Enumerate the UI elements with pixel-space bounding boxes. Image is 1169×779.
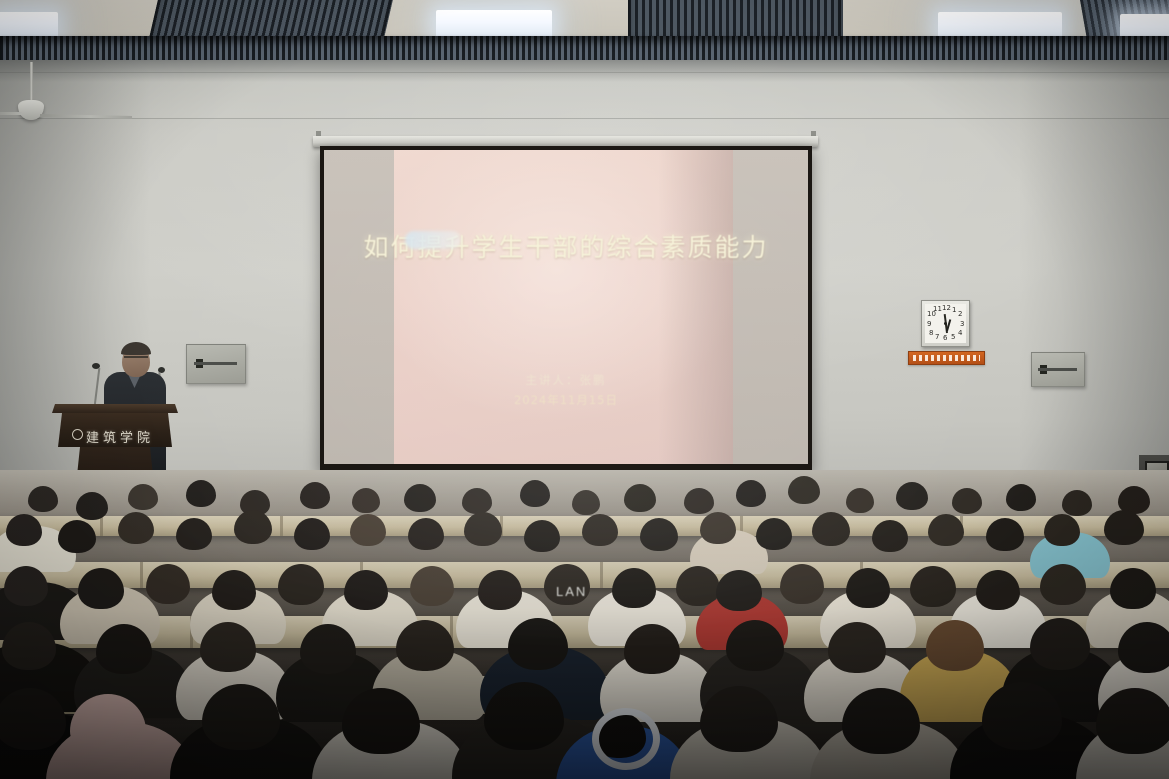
clock-numeral: 12 [942, 305, 951, 312]
slide-presenter: 主讲人：张鹏 [324, 372, 808, 388]
audience-head [78, 568, 124, 609]
audience-head [624, 624, 680, 674]
clock-center-pin [944, 322, 947, 325]
audience-head [1062, 490, 1092, 516]
audience-head [910, 566, 956, 607]
audience-head [212, 570, 256, 610]
screen-surface: 如何提升学生干部的综合素质能力 主讲人：张鹏 2024年11月15日 [324, 150, 808, 464]
audience-head [846, 488, 874, 513]
audience-head [350, 514, 386, 546]
audience-head [396, 620, 454, 671]
audience-head [846, 568, 890, 608]
audience-head [352, 488, 380, 513]
clock-face: 12 1 2 3 4 5 6 7 8 9 10 11 [925, 304, 966, 343]
ceiling-panel-light [0, 12, 58, 38]
audience-head [1030, 618, 1090, 670]
audience-head [1104, 510, 1144, 545]
audience-head [96, 624, 152, 674]
screen-margin-right [733, 150, 808, 464]
clock-numeral: 8 [929, 330, 933, 337]
audience-head [736, 480, 766, 507]
hoodie-circle-logo-icon [592, 708, 660, 770]
audience-head [872, 520, 908, 552]
audience-head [508, 618, 568, 670]
audience-head [896, 482, 928, 510]
box-slot [194, 362, 237, 365]
audience-head [780, 564, 824, 604]
audience-head [146, 564, 190, 604]
audience-head [1044, 514, 1080, 546]
wall-clock: 12 1 2 3 4 5 6 7 8 9 10 11 [921, 300, 970, 347]
audience-head [926, 620, 984, 671]
audience-head [986, 518, 1024, 551]
audience-head [462, 488, 492, 514]
wall-vignette-right [1019, 60, 1169, 520]
audience-head [200, 622, 256, 672]
slide-date: 2024年11月15日 [324, 392, 808, 408]
audience-head [118, 512, 154, 544]
wall-joint-line [0, 72, 1169, 73]
clock-numeral: 4 [958, 330, 962, 337]
audience-head [788, 476, 820, 504]
audience-head [76, 492, 108, 520]
screen-glare-reflection [405, 231, 461, 249]
audience-head [524, 520, 560, 552]
projection-screen[interactable]: 如何提升学生干部的综合素质能力 主讲人：张鹏 2024年11月15日 [320, 146, 812, 471]
clock-numeral: 3 [960, 321, 964, 328]
ceiling-grille-strip [0, 36, 1169, 62]
audience-head [1110, 568, 1156, 609]
ceiling-panel-light [436, 10, 552, 38]
audience-head [4, 566, 48, 606]
box-slot [1038, 368, 1076, 371]
audience-head [300, 624, 356, 674]
ceiling-fan-rod [30, 62, 33, 104]
audience-head [176, 518, 212, 550]
screen-margin-left [324, 150, 397, 464]
audience-head [716, 570, 762, 611]
clock-numeral: 6 [943, 335, 947, 342]
audience-head [58, 520, 96, 553]
presenter-hair [121, 342, 151, 355]
audience-head [1096, 688, 1169, 754]
orange-notice-sign [908, 351, 985, 365]
glasses-icon [124, 356, 148, 363]
notice-sign-text [913, 355, 980, 361]
audience-head [278, 564, 324, 605]
clock-numeral: 1 [952, 307, 956, 314]
wall-electrical-box-right [1031, 352, 1085, 387]
audience-head [6, 514, 42, 546]
audience-head [128, 484, 158, 510]
audience-head [684, 488, 714, 514]
clock-numeral: 5 [951, 334, 955, 341]
wall-electrical-box-left [186, 344, 246, 384]
audience-head [928, 514, 964, 546]
audience-head [1006, 484, 1036, 511]
wall-shadow [0, 60, 1169, 82]
clock-numeral: 11 [933, 306, 942, 313]
audience-head [28, 486, 58, 512]
audience-head [976, 570, 1020, 610]
audience-head [812, 512, 850, 546]
audience-head [1040, 564, 1086, 605]
audience-area: LAN [0, 470, 1169, 779]
lectern-label: 建筑学院 [68, 427, 172, 446]
audience-head [234, 510, 272, 544]
lectern-front: 建筑学院 [58, 413, 172, 447]
audience-head [726, 620, 784, 671]
audience-head [624, 484, 656, 512]
audience-head [2, 622, 56, 670]
audience-head [300, 482, 330, 509]
audience-head [408, 518, 444, 550]
projected-slide [394, 150, 733, 464]
audience-head [612, 568, 656, 608]
audience-head [464, 512, 502, 546]
audience-head [186, 480, 216, 507]
audience-head [756, 518, 792, 550]
ceiling-fan-blade [0, 112, 22, 115]
audience-head [294, 518, 330, 550]
audience-head [1118, 622, 1169, 673]
projection-shading [658, 150, 733, 464]
lectern-top [52, 404, 178, 413]
audience-head [410, 566, 454, 606]
audience-head [478, 570, 522, 610]
clock-numeral: 9 [927, 321, 931, 328]
clock-numeral: 2 [958, 311, 962, 318]
audience-head [828, 622, 886, 673]
audience-head [700, 512, 736, 544]
audience-head [344, 570, 388, 610]
lecture-hall-photo: 12 1 2 3 4 5 6 7 8 9 10 11 [0, 0, 1169, 779]
wall-joint-line [0, 118, 1169, 119]
audience-head [640, 518, 678, 551]
audience-head [520, 480, 550, 507]
audience-head [572, 490, 600, 515]
audience-head [582, 514, 618, 546]
audience-head [952, 488, 982, 514]
clock-numeral: 7 [935, 334, 939, 341]
garment-text: LAN [556, 584, 587, 599]
slide-title: 如何提升学生干部的综合素质能力 [324, 228, 808, 264]
audience-head [404, 484, 436, 512]
